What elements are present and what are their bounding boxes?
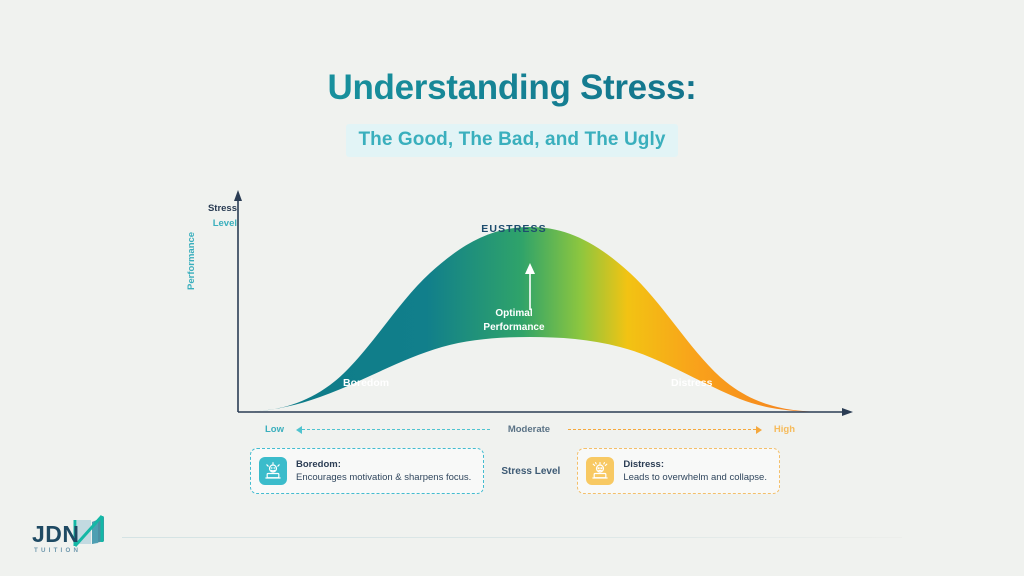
legend: Boredom: Encourages motivation & sharpen… [250,448,780,494]
legend-card-distress-title: Distress: [623,458,767,471]
right-arrowhead [756,426,762,434]
jdn-tuition-logo[interactable]: JDN TUITION [30,514,116,558]
optimal-line2: Performance [483,322,544,333]
logo-tagline: TUITION [34,547,81,554]
logo-wordmark: JDN [32,521,80,547]
stress-performance-chart [180,185,860,425]
footer-divider [122,537,902,538]
scale-tick-moderate: Moderate [508,424,550,435]
eustress-annotation: EUSTRESS [2,223,1024,235]
optimal-performance-annotation: Optimal Performance [2,307,1024,335]
y-axis-label-performance: Performance [186,232,197,290]
chart-svg [180,185,860,425]
legend-card-boredom[interactable]: Boredom: Encourages motivation & sharpen… [250,448,484,494]
distress-annotation: Distress [671,377,712,389]
jdn-logo-svg: JDN TUITION [30,514,116,558]
scale-tick-high: High [774,424,795,435]
legend-card-distress-text: Distress: Leads to overwhelm and collaps… [623,458,767,484]
page-footer: JDN TUITION [0,506,1024,576]
subtitle-container: The Good, The Bad, and The Ugly [0,124,1024,157]
scale-tick-low: Low [265,424,284,435]
page-subtitle: The Good, The Bad, and The Ugly [346,124,677,157]
bored-person-icon [259,457,287,485]
legend-card-distress-desc: Leads to overwhelm and collapse. [623,471,767,484]
stressed-person-icon [586,457,614,485]
page-header: Understanding Stress: The Good, The Bad,… [0,0,1024,157]
legend-card-distress[interactable]: Distress: Leads to overwhelm and collaps… [577,448,780,494]
legend-card-boredom-title: Boredom: [296,458,471,471]
legend-center-label: Stress Level [493,466,568,477]
arrow-left-dashed-icon [296,424,496,434]
y-axis-title-word1: Stress [191,201,237,216]
y-axis-arrowhead [234,190,242,201]
x-axis-arrowhead [842,408,853,416]
dashed-line-left [302,429,490,430]
legend-card-boredom-desc: Encourages motivation & sharpens focus. [296,471,471,484]
optimal-line1: Optimal [495,308,532,319]
page-title: Understanding Stress: [0,68,1024,108]
boredom-annotation: Boredom [343,377,389,389]
stress-level-scale: Low Moderate High [265,420,795,438]
legend-card-boredom-text: Boredom: Encourages motivation & sharpen… [296,458,471,484]
dashed-line-right [568,429,756,430]
arrow-right-dashed-icon [562,424,762,434]
